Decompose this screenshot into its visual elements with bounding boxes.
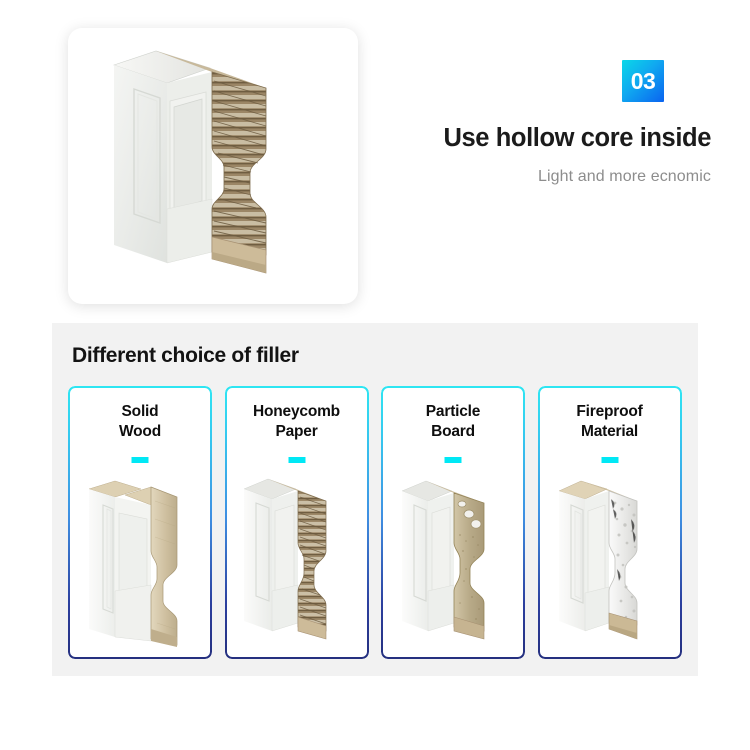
page-root: 03 Use hollow core inside Light and more…: [0, 0, 750, 750]
filler-card-label: Solid Wood: [68, 402, 212, 443]
filler-panel-title: Different choice of filler: [72, 344, 299, 368]
step-number-badge: 03: [622, 60, 664, 102]
filler-card-solid-wood[interactable]: Solid Wood: [68, 386, 212, 659]
filler-options-panel: Different choice of filler Solid Wood: [52, 323, 698, 676]
filler-card-label: Honeycomb Paper: [225, 402, 369, 443]
filler-card-fireproof-material[interactable]: Fireproof Material: [538, 386, 682, 659]
filler-card-label: Particle Board: [381, 402, 525, 443]
accent-dash: [445, 457, 462, 463]
filler-card-label: Fireproof Material: [538, 402, 682, 443]
filler-card-label-line1: Fireproof: [576, 403, 642, 420]
filler-card-label-line2: Paper: [275, 423, 317, 440]
accent-dash: [132, 457, 149, 463]
solid-wood-core-image: [68, 470, 212, 653]
particle-board-core-image: [381, 470, 525, 653]
filler-card-particle-board[interactable]: Particle Board: [381, 386, 525, 659]
filler-card-label-line1: Particle: [426, 403, 480, 420]
hero-subline: Light and more ecnomic: [421, 168, 711, 186]
filler-card-honeycomb-paper[interactable]: Honeycomb Paper: [225, 386, 369, 659]
filler-card-label-line1: Honeycomb: [253, 403, 340, 420]
filler-card-label-line1: Solid: [122, 403, 159, 420]
accent-dash: [601, 457, 618, 463]
hero-headline: Use hollow core inside: [421, 124, 711, 153]
hero-product-image: [68, 28, 358, 304]
fireproof-material-core-image: [538, 470, 682, 653]
filler-card-label-line2: Board: [431, 423, 475, 440]
honeycomb-paper-core-image: [225, 470, 369, 653]
filler-cards-row: Solid Wood: [68, 386, 682, 659]
filler-card-label-line2: Material: [581, 423, 638, 440]
filler-card-label-line2: Wood: [119, 423, 161, 440]
hero-product-card: [68, 28, 358, 304]
accent-dash: [288, 457, 305, 463]
hero-text-block: 03 Use hollow core inside Light and more…: [421, 60, 711, 186]
